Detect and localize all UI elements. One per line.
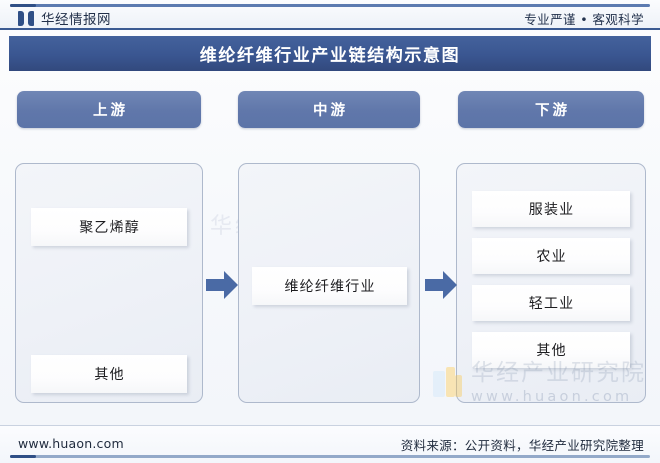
- site-slogan: 专业严谨 • 客观科学: [524, 9, 644, 28]
- watermark-brand-cn: 华经产业研究院: [471, 360, 646, 386]
- node-downstream-3-label: 轻工业: [528, 293, 575, 313]
- page-title: 维纶纤维行业产业链结构示意图: [200, 41, 460, 66]
- site-footer: www.huaon.com 资料来源：公开资料，华经产业研究院整理: [0, 425, 660, 463]
- node-upstream-1[interactable]: 聚乙烯醇: [31, 208, 187, 246]
- huaon-logo-icon: [433, 367, 463, 399]
- footer-accent-rule: [10, 455, 650, 458]
- infographic-page: 华经情报网 专业严谨 • 客观科学 维纶纤维行业产业链结构示意图 华经产业研究院…: [0, 0, 660, 463]
- node-downstream-1[interactable]: 服装业: [472, 191, 630, 227]
- node-midstream-1[interactable]: 维纶纤维行业: [252, 267, 407, 305]
- column-header-upstream-label: 上游: [90, 99, 128, 120]
- header-accent-rule: [10, 4, 650, 7]
- node-downstream-4-label: 其他: [535, 340, 567, 360]
- footer-source-note: 资料来源：公开资料，华经产业研究院整理: [401, 435, 644, 454]
- brand-name: 华经情报网: [41, 8, 111, 28]
- book-mark-icon: [18, 11, 34, 26]
- node-downstream-2-label: 农业: [535, 246, 567, 266]
- diagram-stage: 华经产业研究院 上游 中游 下游 聚乙烯醇 其他 维纶纤维行业 服装业: [0, 71, 660, 421]
- site-header: 华经情报网 专业严谨 • 客观科学: [0, 0, 660, 30]
- node-midstream-1-label: 维纶纤维行业: [283, 276, 375, 296]
- column-header-midstream[interactable]: 中游: [238, 91, 420, 128]
- column-header-upstream[interactable]: 上游: [17, 91, 201, 128]
- node-upstream-1-label: 聚乙烯醇: [78, 217, 140, 237]
- node-downstream-2[interactable]: 农业: [472, 238, 630, 274]
- node-upstream-2[interactable]: 其他: [31, 355, 187, 393]
- column-header-midstream-label: 中游: [310, 99, 348, 120]
- column-header-downstream-label: 下游: [532, 99, 570, 120]
- node-downstream-3[interactable]: 轻工业: [472, 285, 630, 321]
- brand: 华经情报网: [18, 8, 111, 28]
- node-upstream-2-label: 其他: [93, 364, 125, 384]
- chart-title-banner: 维纶纤维行业产业链结构示意图: [9, 36, 651, 71]
- node-downstream-1-label: 服装业: [528, 199, 575, 219]
- arrow-right-icon: [425, 270, 457, 300]
- watermark-brand-en: www.huaon.com: [471, 389, 632, 405]
- footer-site-url[interactable]: www.huaon.com: [18, 436, 124, 451]
- arrow-right-icon: [206, 270, 238, 300]
- watermark: 华经产业研究院 www.huaon.com: [433, 360, 646, 407]
- column-header-downstream[interactable]: 下游: [458, 91, 644, 128]
